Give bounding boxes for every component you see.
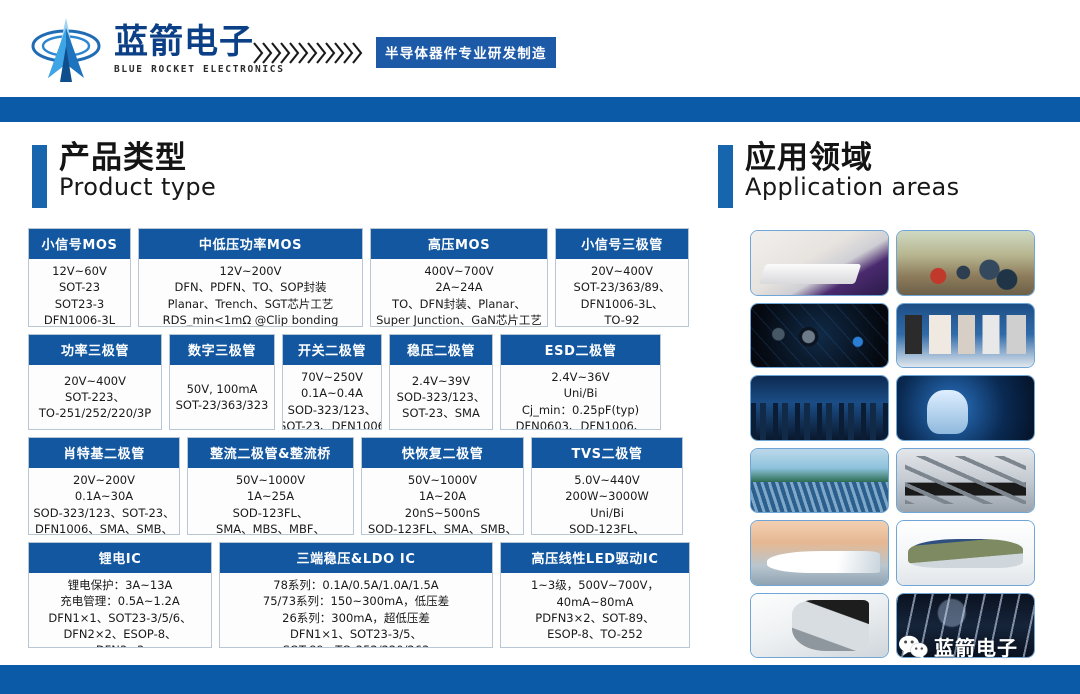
product-spec-line: 1A~20A xyxy=(419,488,466,504)
product-spec-line: 20V~400V xyxy=(64,373,126,389)
product-card[interactable]: 小信号三极管20V~400VSOT-23/363/89、DFN1006-3L、T… xyxy=(555,228,689,327)
application-row xyxy=(750,375,1035,441)
poster-page: 蓝箭电子 BLUE ROCKET ELECTRONICS 半导体器件专业研发制造 xyxy=(0,0,1080,694)
product-card[interactable]: 整流二极管&整流桥50V~1000V1A~25ASOD-123FL、SMA、MB… xyxy=(187,437,354,535)
product-title-cn: 产品类型 xyxy=(59,142,216,175)
product-card-title: 开关二极管 xyxy=(283,335,381,365)
product-type-title: 产品类型 Product type xyxy=(32,142,216,208)
product-spec-line: 12V~200V xyxy=(220,263,282,279)
laptop-photo-art xyxy=(751,231,888,295)
product-spec-line: 20V~400V xyxy=(591,263,653,279)
product-card-specs: 20V~400VSOT-23/363/89、DFN1006-3L、TO-92 xyxy=(556,259,688,327)
product-card[interactable]: 高压MOS400V~700V2A~24ATO、DFN封装、Planar、Supe… xyxy=(370,228,548,327)
product-spec-line: SOD-323/123、 xyxy=(288,402,377,418)
product-card-specs: 12V~200VDFN、PDFN、TO、SOP封装Planar、Trench、S… xyxy=(139,259,362,327)
product-card-specs: 50V, 100mASOT-23/363/323 xyxy=(170,365,274,429)
product-card[interactable]: 锂电IC锂电保护：3A~13A充电管理：0.5A~1.2ADFN1×1、SOT2… xyxy=(28,542,212,648)
header-tagline: 半导体器件专业研发制造 xyxy=(376,37,556,68)
product-card-title: 数字三极管 xyxy=(170,335,274,365)
product-spec-line: Planar、Trench、SGT芯片工艺 xyxy=(168,296,334,312)
product-card-title: 功率三极管 xyxy=(29,335,161,365)
ev-charging-photo xyxy=(750,593,889,659)
product-card-specs: 12V~60VSOT-23SOT23-3DFN1006-3L xyxy=(29,259,130,327)
product-card-title: 小信号三极管 xyxy=(556,229,688,259)
page-header: 蓝箭电子 BLUE ROCKET ELECTRONICS 半导体器件专业研发制造 xyxy=(0,0,1080,97)
industrial-robot-photo xyxy=(896,448,1035,514)
product-spec-line: SOD-123FL、 xyxy=(233,505,309,521)
product-card-title: 肖特基二极管 xyxy=(29,438,179,468)
product-spec-line: SOD-323/123、SOT-23、 xyxy=(33,505,174,521)
product-spec-line: 充电管理：0.5A~1.2A xyxy=(60,593,179,609)
product-spec-line: PDFN3×2、SOT-89、 xyxy=(535,610,654,626)
title-accent-bar xyxy=(32,145,47,208)
outdoor-power-photo-art xyxy=(897,231,1034,295)
apps-title-cn: 应用领域 xyxy=(745,142,960,175)
product-card-specs: 50V~1000V1A~20A20nS~500nSSOD-123FL、SMA、S… xyxy=(362,468,523,535)
product-spec-line: 12V~60V xyxy=(52,263,107,279)
product-spec-line: RDS_min<1mΩ @Clip bonding xyxy=(163,312,339,327)
product-spec-line: 50V~1000V xyxy=(408,472,477,488)
product-spec-line: 0.1A~30A xyxy=(75,488,133,504)
product-spec-line: 400V~700V xyxy=(424,263,493,279)
laptop-photo xyxy=(750,230,889,296)
title-accent-bar xyxy=(718,145,733,208)
product-spec-line: DFN2×2、ESOP-8、 xyxy=(63,626,176,642)
ai-robot-photo-art xyxy=(897,376,1034,440)
product-spec-line: 200W~3000W xyxy=(565,488,649,504)
product-spec-line: SOT-23 xyxy=(59,279,100,295)
rail-transit-photo-art xyxy=(751,521,888,585)
product-card-specs: 70V~250V0.1A~0.4ASOD-323/123、SOT-23、DFN1… xyxy=(283,365,381,430)
product-card-specs: 400V~700V2A~24ATO、DFN封装、Planar、Super Jun… xyxy=(371,259,547,327)
product-spec-line: DFN1006、SMA、SMB、 xyxy=(35,521,173,535)
product-spec-line: 2A~24A xyxy=(435,279,482,295)
product-spec-line: DFN1006-3L、 xyxy=(581,296,664,312)
product-card[interactable]: 肖特基二极管20V~200V0.1A~30ASOD-323/123、SOT-23… xyxy=(28,437,180,535)
product-spec-line: Super Junction、GaN芯片工艺 xyxy=(376,312,542,327)
product-card-title: ESD二极管 xyxy=(501,335,660,365)
application-row xyxy=(750,520,1035,586)
product-spec-line: TO、DFN封装、Planar、 xyxy=(392,296,526,312)
new-energy-photo-art xyxy=(751,449,888,513)
wechat-icon xyxy=(898,634,928,660)
apps-title-en: Application areas xyxy=(745,175,960,201)
application-areas-grid xyxy=(750,230,1035,658)
product-card-specs: 5.0V~440V200W~3000WUni/BiSOD-123FL、SMA、S… xyxy=(532,468,682,535)
industrial-robot-photo-art xyxy=(897,449,1034,513)
chevrons-right-icon xyxy=(252,40,370,66)
product-spec-line: 50V~1000V xyxy=(236,472,305,488)
product-spec-line: Uni/Bi xyxy=(590,505,624,521)
product-spec-line: DFN、PDFN、TO、SOP封装 xyxy=(175,279,327,295)
product-spec-line: SOD-123FL、 xyxy=(569,521,645,535)
product-spec-line: DFN1006-3L xyxy=(44,312,115,327)
outdoor-power-photo xyxy=(896,230,1035,296)
application-row xyxy=(750,448,1035,514)
product-card[interactable]: ESD二极管2.4V~36VUni/BiCj_min：0.25pF(typ)DF… xyxy=(500,334,661,430)
product-card-specs: 2.4V~36VUni/BiCj_min：0.25pF(typ)DFN0603、… xyxy=(501,365,660,430)
product-card-title: 中低压功率MOS xyxy=(139,229,362,259)
product-row: 锂电IC锂电保护：3A~13A充电管理：0.5A~1.2ADFN1×1、SOT2… xyxy=(28,542,690,648)
product-card-specs: 20V~400VSOT-223、TO-251/252/220/3P xyxy=(29,365,161,429)
product-card-title: 稳压二极管 xyxy=(390,335,492,365)
product-card-title: TVS二极管 xyxy=(532,438,682,468)
smart-city-photo-art xyxy=(751,376,888,440)
product-card[interactable]: 稳压二极管2.4V~39VSOD-323/123、SOT-23、SMA xyxy=(389,334,493,430)
brand-logo[interactable]: 蓝箭电子 BLUE ROCKET ELECTRONICS xyxy=(28,16,285,84)
product-spec-line: SOT-23/363/323 xyxy=(176,397,269,413)
product-spec-line: 2.4V~39V xyxy=(412,373,470,389)
product-spec-line: SOT-223、 xyxy=(65,389,125,405)
product-spec-line: 0.1A~0.4A xyxy=(301,385,363,401)
application-row xyxy=(750,230,1035,296)
product-card[interactable]: 功率三极管20V~400VSOT-223、TO-251/252/220/3P xyxy=(28,334,162,430)
wearables-photo-art xyxy=(751,304,888,368)
product-spec-line: DFN0603、DFN1006、 xyxy=(516,418,646,430)
ev-charging-photo-art xyxy=(751,594,888,658)
wechat-account-name: 蓝箭电子 xyxy=(934,632,1018,661)
product-spec-line: 1~3级，500V~700V， xyxy=(531,577,659,593)
product-card-title: 三端稳压&LDO IC xyxy=(220,543,492,573)
product-spec-line: 1A~25A xyxy=(247,488,294,504)
header-blue-bar xyxy=(0,97,1080,122)
product-spec-line: SOD-123FL、SMA、SMB、 xyxy=(368,521,517,535)
product-spec-line: DFN1×1、SOT23-3/5、 xyxy=(290,626,422,642)
rail-transit-photo xyxy=(750,520,889,586)
product-card-title: 整流二极管&整流桥 xyxy=(188,438,353,468)
product-card-title: 高压线性LED驱动IC xyxy=(501,543,689,573)
product-card-specs: 50V~1000V1A~25ASOD-123FL、SMA、MBS、MBF、ABS… xyxy=(188,468,353,535)
smart-city-photo xyxy=(750,375,889,441)
home-appliances-photo xyxy=(896,303,1035,369)
product-spec-line: Cj_min：0.25pF(typ) xyxy=(522,402,639,418)
product-card[interactable]: TVS二极管5.0V~440V200W~3000WUni/BiSOD-123FL… xyxy=(531,437,683,535)
automotive-photo xyxy=(896,520,1035,586)
product-spec-line: 20V~200V xyxy=(73,472,135,488)
automotive-photo-art xyxy=(897,521,1034,585)
product-card[interactable]: 开关二极管70V~250V0.1A~0.4ASOD-323/123、SOT-23… xyxy=(282,334,382,430)
ai-robot-photo xyxy=(896,375,1035,441)
product-spec-line: TO-92 xyxy=(604,312,639,327)
product-spec-line: SMA、MBS、MBF、 xyxy=(216,521,325,535)
product-spec-line: DFN3×3 xyxy=(96,642,144,648)
product-spec-line: TO-251/252/220/3P xyxy=(39,405,151,421)
product-card-title: 快恢复二极管 xyxy=(362,438,523,468)
product-spec-line: 20nS~500nS xyxy=(405,505,480,521)
product-spec-line: SOT-89、TO-252/220/263 xyxy=(283,642,430,648)
product-row: 小信号MOS12V~60VSOT-23SOT23-3DFN1006-3L中低压功… xyxy=(28,228,690,327)
home-appliances-photo-art xyxy=(897,304,1034,368)
product-card[interactable]: 数字三极管50V, 100mASOT-23/363/323 xyxy=(169,334,275,430)
wearables-photo xyxy=(750,303,889,369)
product-card-specs: 78系列：0.1A/0.5A/1.0A/1.5A75/73系列：150~300m… xyxy=(220,573,492,648)
product-spec-line: 70V~250V xyxy=(301,369,363,385)
product-spec-line: 75/73系列：150~300mA，低压差 xyxy=(263,593,449,609)
application-row xyxy=(750,303,1035,369)
product-card-specs: 20V~200V0.1A~30ASOD-323/123、SOT-23、DFN10… xyxy=(29,468,179,535)
product-row: 肖特基二极管20V~200V0.1A~30ASOD-323/123、SOT-23… xyxy=(28,437,690,535)
product-spec-line: 78系列：0.1A/0.5A/1.0A/1.5A xyxy=(273,577,438,593)
product-card[interactable]: 小信号MOS12V~60VSOT-23SOT23-3DFN1006-3L xyxy=(28,228,131,327)
product-spec-line: SOD-323/123、 xyxy=(397,389,486,405)
product-card-specs: 1~3级，500V~700V，40mA~80mAPDFN3×2、SOT-89、E… xyxy=(501,573,689,647)
product-card[interactable]: 快恢复二极管50V~1000V1A~20A20nS~500nSSOD-123FL… xyxy=(361,437,524,535)
wechat-watermark: 蓝箭电子 xyxy=(898,632,1018,661)
product-spec-line: 锂电保护：3A~13A xyxy=(68,577,173,593)
product-card-specs: 2.4V~39VSOD-323/123、SOT-23、SMA xyxy=(390,365,492,429)
product-spec-line: 2.4V~36V xyxy=(551,369,609,385)
product-spec-line: 50V, 100mA xyxy=(187,381,258,397)
product-card-title: 高压MOS xyxy=(371,229,547,259)
product-card[interactable]: 高压线性LED驱动IC1~3级，500V~700V，40mA~80mAPDFN3… xyxy=(500,542,690,648)
product-type-grid: 小信号MOS12V~60VSOT-23SOT23-3DFN1006-3L中低压功… xyxy=(28,228,690,656)
product-title-en: Product type xyxy=(59,175,216,201)
footer-blue-bar xyxy=(0,665,1080,694)
product-card-specs: 锂电保护：3A~13A充电管理：0.5A~1.2ADFN1×1、SOT23-3/… xyxy=(29,573,211,648)
product-row: 功率三极管20V~400VSOT-223、TO-251/252/220/3P数字… xyxy=(28,334,690,430)
product-card[interactable]: 中低压功率MOS12V~200VDFN、PDFN、TO、SOP封装Planar、… xyxy=(138,228,363,327)
product-spec-line: SOT-23/363/89、 xyxy=(574,279,671,295)
product-spec-line: DFN1×1、SOT23-3/5/6、 xyxy=(48,610,191,626)
product-spec-line: SOT-23、DFN1006 xyxy=(282,418,382,430)
product-spec-line: 5.0V~440V xyxy=(574,472,640,488)
product-card[interactable]: 三端稳压&LDO IC78系列：0.1A/0.5A/1.0A/1.5A75/73… xyxy=(219,542,493,648)
product-card-title: 小信号MOS xyxy=(29,229,130,259)
product-spec-line: 26系列：300mA，超低压差 xyxy=(282,610,430,626)
product-spec-line: 40mA~80mA xyxy=(556,594,633,610)
product-spec-line: SOT-23、SMA xyxy=(402,405,480,421)
product-spec-line: ESOP-8、TO-252 xyxy=(547,626,643,642)
application-areas-title: 应用领域 Application areas xyxy=(718,142,960,208)
product-card-title: 锂电IC xyxy=(29,543,211,573)
new-energy-photo xyxy=(750,448,889,514)
product-spec-line: Uni/Bi xyxy=(564,385,598,401)
product-spec-line: SOT23-3 xyxy=(55,296,104,312)
rocket-orbit-logo-icon xyxy=(28,16,104,84)
